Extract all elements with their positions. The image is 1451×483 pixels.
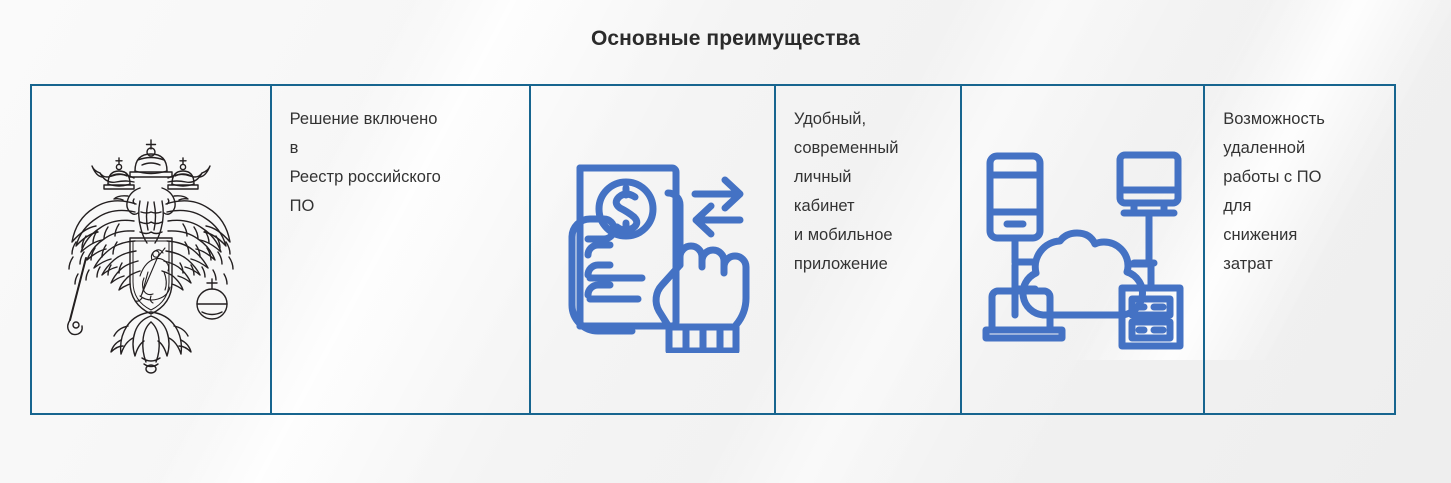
- benefits-table: Решение включено в Реестр российского ПО: [30, 84, 1396, 415]
- benefit-cell-registry-text: Решение включено в Реестр российского ПО: [272, 86, 532, 413]
- cloud-network-devices-icon: [962, 144, 1204, 356]
- benefit-cell-cabinet-text: Удобный, современный личный кабинет и мо…: [776, 86, 962, 413]
- benefit-cell-remote-text: Возможность удаленной работы с ПО для сн…: [1205, 86, 1394, 413]
- hand-holding-money-phone-transfer-icon: [531, 147, 774, 353]
- slide-content: Основные преимущества: [0, 0, 1451, 483]
- benefit-cell-emblem: [32, 86, 272, 413]
- benefit-cell-mobile-payment-icon: [531, 86, 776, 413]
- benefit-cell-cloud-icon: [962, 86, 1206, 413]
- benefit-label-cabinet: Удобный, современный личный кабинет и мо…: [794, 105, 899, 279]
- russian-coat-of-arms-emblem: [32, 126, 270, 376]
- benefit-label-remote: Возможность удаленной работы с ПО для сн…: [1223, 105, 1325, 279]
- benefit-label-registry: Решение включено в Реестр российского ПО: [290, 105, 441, 221]
- page-title: Основные преимущества: [0, 27, 1451, 51]
